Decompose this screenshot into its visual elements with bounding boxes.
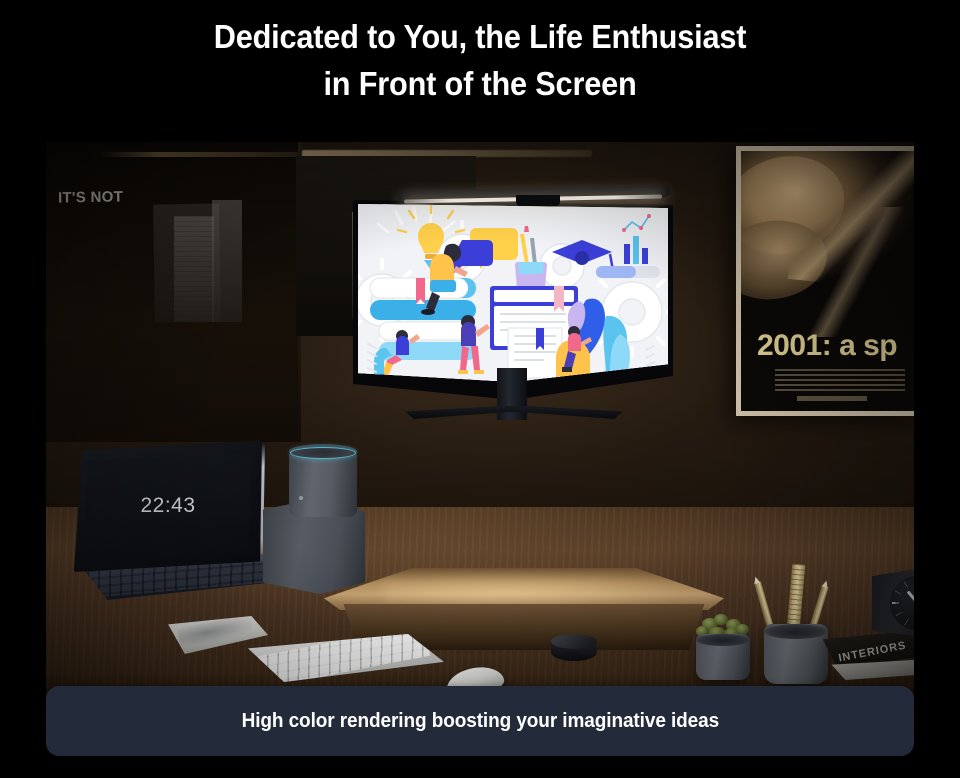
movie-poster-2001: 2001: a sp: [736, 146, 914, 416]
poster-credits-block: [775, 369, 905, 391]
shelf-book-lines: [174, 216, 214, 322]
speaker-body: [289, 451, 357, 517]
clock-tick-marks: [890, 576, 914, 630]
shelf-rail-left: [98, 152, 298, 157]
speaker-indicator-dot: [299, 496, 303, 500]
caption-bar: High color rendering boosting your imagi…: [46, 686, 914, 756]
page-title: Dedicated to You, the Life Enthusiast in…: [34, 14, 927, 108]
light-bar-mount-clip: [516, 195, 560, 206]
plant-pot-mouth: [696, 634, 750, 646]
poster-streak-2: [775, 207, 914, 337]
monitor-light-bar[interactable]: [398, 188, 670, 204]
pencil-holder-mouth: [764, 624, 828, 639]
tablet-device[interactable]: 22:43: [70, 440, 266, 572]
tablet-screen: 22:43: [84, 454, 252, 558]
riser-light-glow: [384, 572, 684, 606]
product-scene-photo: IT'S NOT A SMILE IN THE 2001: a sp: [46, 142, 914, 742]
headline-line-2: in Front of the Screen: [34, 61, 927, 108]
poster-artwork: 2001: a sp: [741, 151, 914, 411]
tablet-clock-time: 22:43: [84, 494, 252, 518]
shelf-book: [212, 200, 242, 322]
desk-puck-device[interactable]: [551, 634, 597, 662]
smart-speaker[interactable]: [289, 444, 357, 520]
clock-face: [890, 576, 914, 630]
plant-pot: [696, 634, 750, 680]
poster-title-text: 2001: a sp: [757, 329, 897, 363]
monitor-screen: [358, 204, 668, 382]
caption-text: High color rendering boosting your imagi…: [241, 710, 719, 733]
poster-credits-rating: [797, 396, 867, 401]
headline-line-1: Dedicated to You, the Life Enthusiast: [34, 14, 927, 61]
book-title-its-not: IT'S NOT: [58, 189, 123, 207]
puck-top: [551, 634, 597, 649]
analog-desk-clock: [872, 566, 914, 638]
pencil-holder: [764, 624, 828, 684]
curved-monitor: [353, 200, 673, 415]
screen-illustration: [358, 204, 668, 382]
speaker-led-ring: [290, 447, 356, 459]
